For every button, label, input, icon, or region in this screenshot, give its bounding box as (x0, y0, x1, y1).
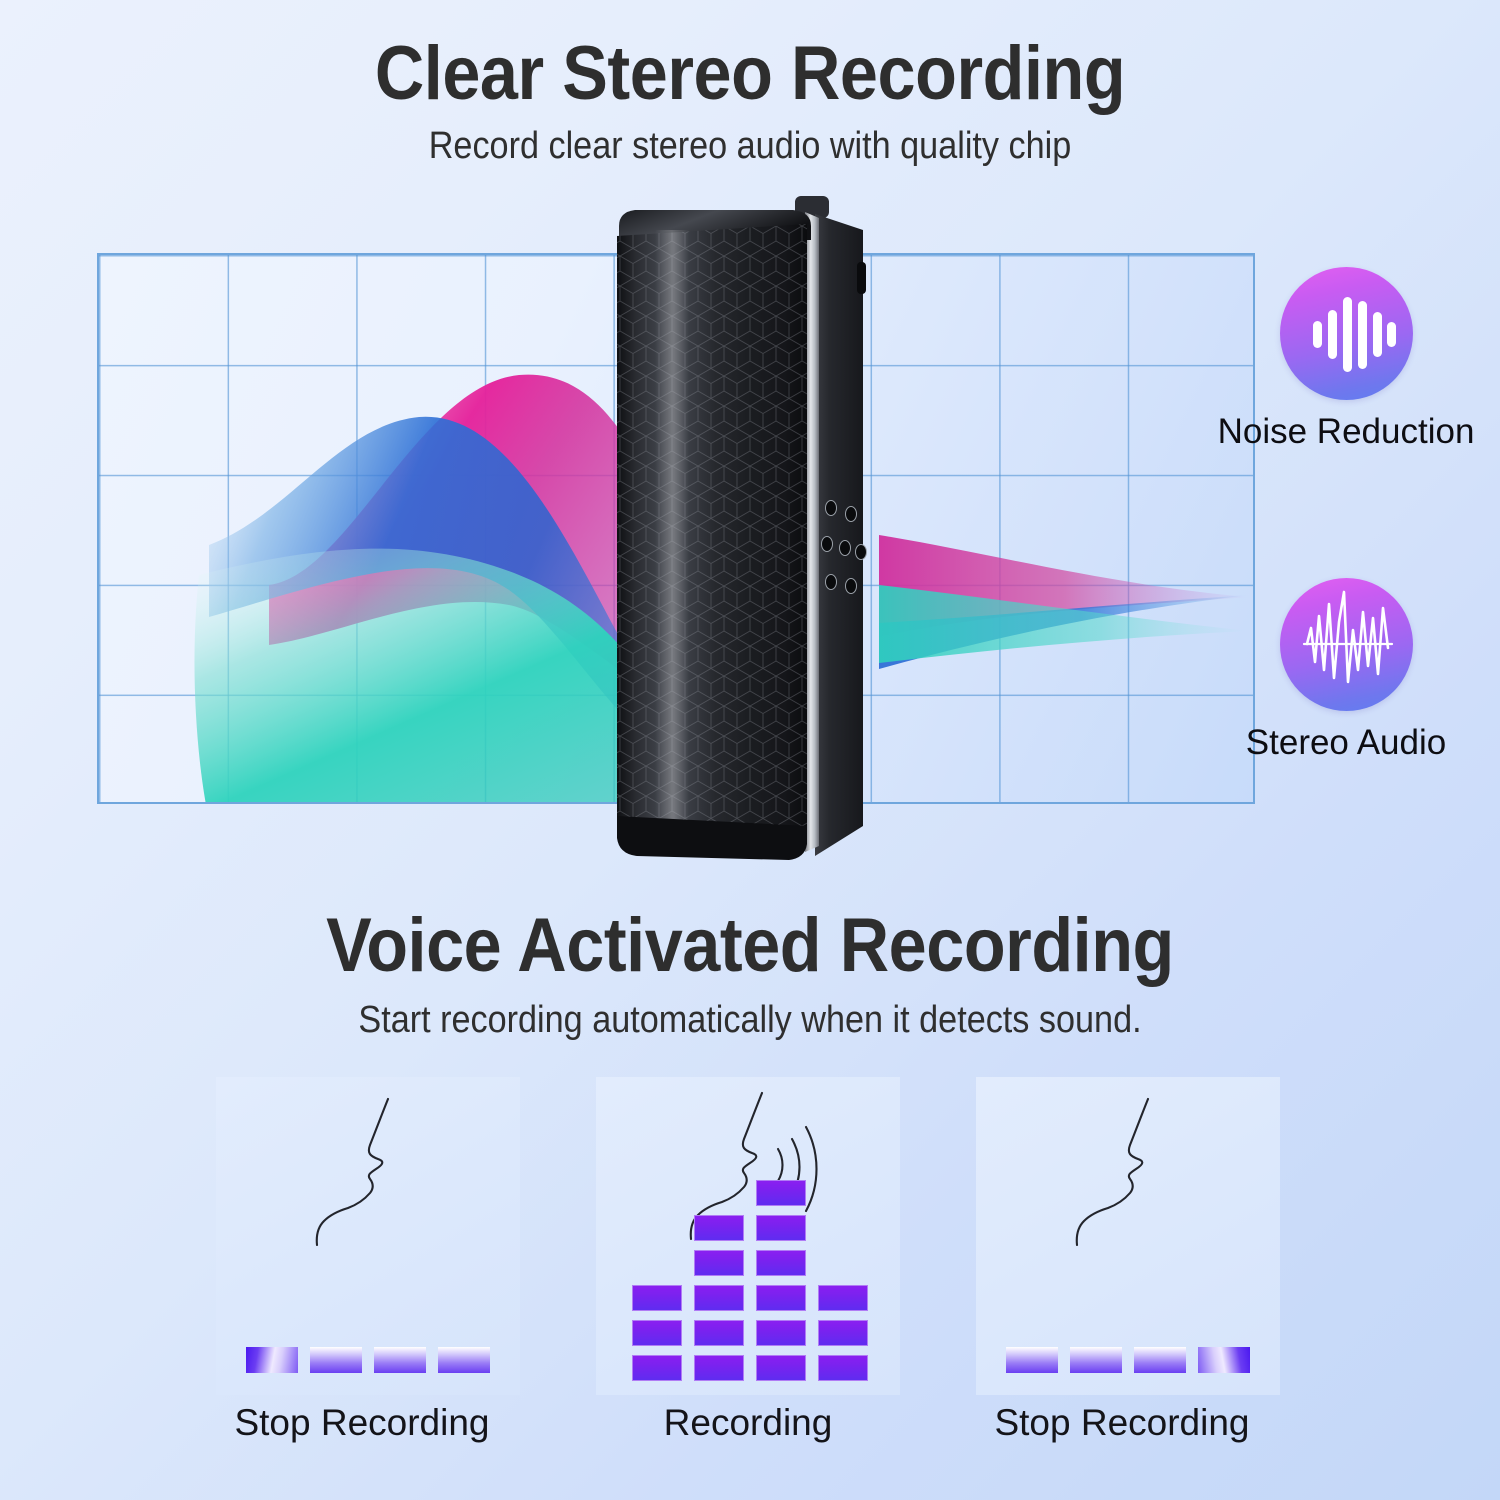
panel-stop-recording-left[interactable] (216, 1077, 520, 1395)
eq-block (694, 1250, 744, 1276)
hero-section-voice-activated: Voice Activated Recording Start recordin… (0, 906, 1500, 1046)
eq-block (818, 1355, 868, 1381)
eq-block (818, 1285, 868, 1311)
level-meter-idle-left (246, 1347, 490, 1373)
panel-stop-recording-right[interactable] (976, 1077, 1280, 1395)
device-side-panel (815, 214, 863, 856)
eq-block (694, 1285, 744, 1311)
feature-noise-reduction[interactable]: Noise Reduction (1196, 267, 1496, 452)
eq-block (632, 1285, 682, 1311)
level-meter-idle-right (1006, 1347, 1250, 1373)
panel-recording[interactable] (596, 1077, 900, 1395)
voice-recorder-device (607, 196, 877, 868)
stereo-audio-bubble (1280, 578, 1413, 711)
eq-block (632, 1355, 682, 1381)
meter-segment (1006, 1347, 1058, 1373)
page-subtitle-stereo: Record clear stereo audio with quality c… (75, 120, 1425, 172)
eq-block (756, 1355, 806, 1381)
meter-segment (1134, 1347, 1186, 1373)
noise-reduction-bubble (1280, 267, 1413, 400)
page-subtitle-voice-activated: Start recording automatically when it de… (75, 994, 1425, 1046)
meter-segment (1198, 1347, 1250, 1373)
feature-label-noise-reduction: Noise Reduction (1196, 412, 1496, 452)
device-highlight (655, 230, 689, 836)
page-title-stereo: Clear Stereo Recording (75, 34, 1425, 114)
meter-segment (1070, 1347, 1122, 1373)
face-profile-silent-icon (1064, 1093, 1204, 1283)
hero-section-stereo: Clear Stereo Recording Record clear ster… (0, 34, 1500, 172)
panel-label-recording: Recording (596, 1402, 900, 1444)
panel-label-stop-recording-left: Stop Recording (210, 1402, 514, 1444)
device-port (857, 262, 866, 294)
meter-segment (374, 1347, 426, 1373)
equalizer-recording (632, 1161, 868, 1381)
eq-block (756, 1215, 806, 1241)
panel-label-stop-recording-right: Stop Recording (970, 1402, 1274, 1444)
device-graphic (607, 196, 877, 868)
eq-block (756, 1285, 806, 1311)
device-silver-strip (805, 212, 819, 852)
feature-stereo-audio[interactable]: Stereo Audio (1196, 578, 1496, 763)
eq-block (694, 1355, 744, 1381)
eq-block (694, 1215, 744, 1241)
page-title-voice-activated: Voice Activated Recording (75, 906, 1425, 986)
feature-label-stereo-audio: Stereo Audio (1196, 723, 1496, 763)
meter-segment (310, 1347, 362, 1373)
sound-bars-icon (1280, 267, 1413, 400)
face-profile-silent-icon (304, 1093, 444, 1283)
eq-block (818, 1320, 868, 1346)
meter-segment (438, 1347, 490, 1373)
eq-block (756, 1180, 806, 1206)
voice-activation-panels: Stop Recording Recording Stop Recording (216, 1077, 1288, 1477)
meter-segment (246, 1347, 298, 1373)
device-texture (617, 224, 807, 842)
eq-block (694, 1320, 744, 1346)
eq-block (756, 1320, 806, 1346)
waveform-zigzag-icon (1280, 578, 1413, 711)
eq-block (632, 1320, 682, 1346)
eq-block (756, 1250, 806, 1276)
